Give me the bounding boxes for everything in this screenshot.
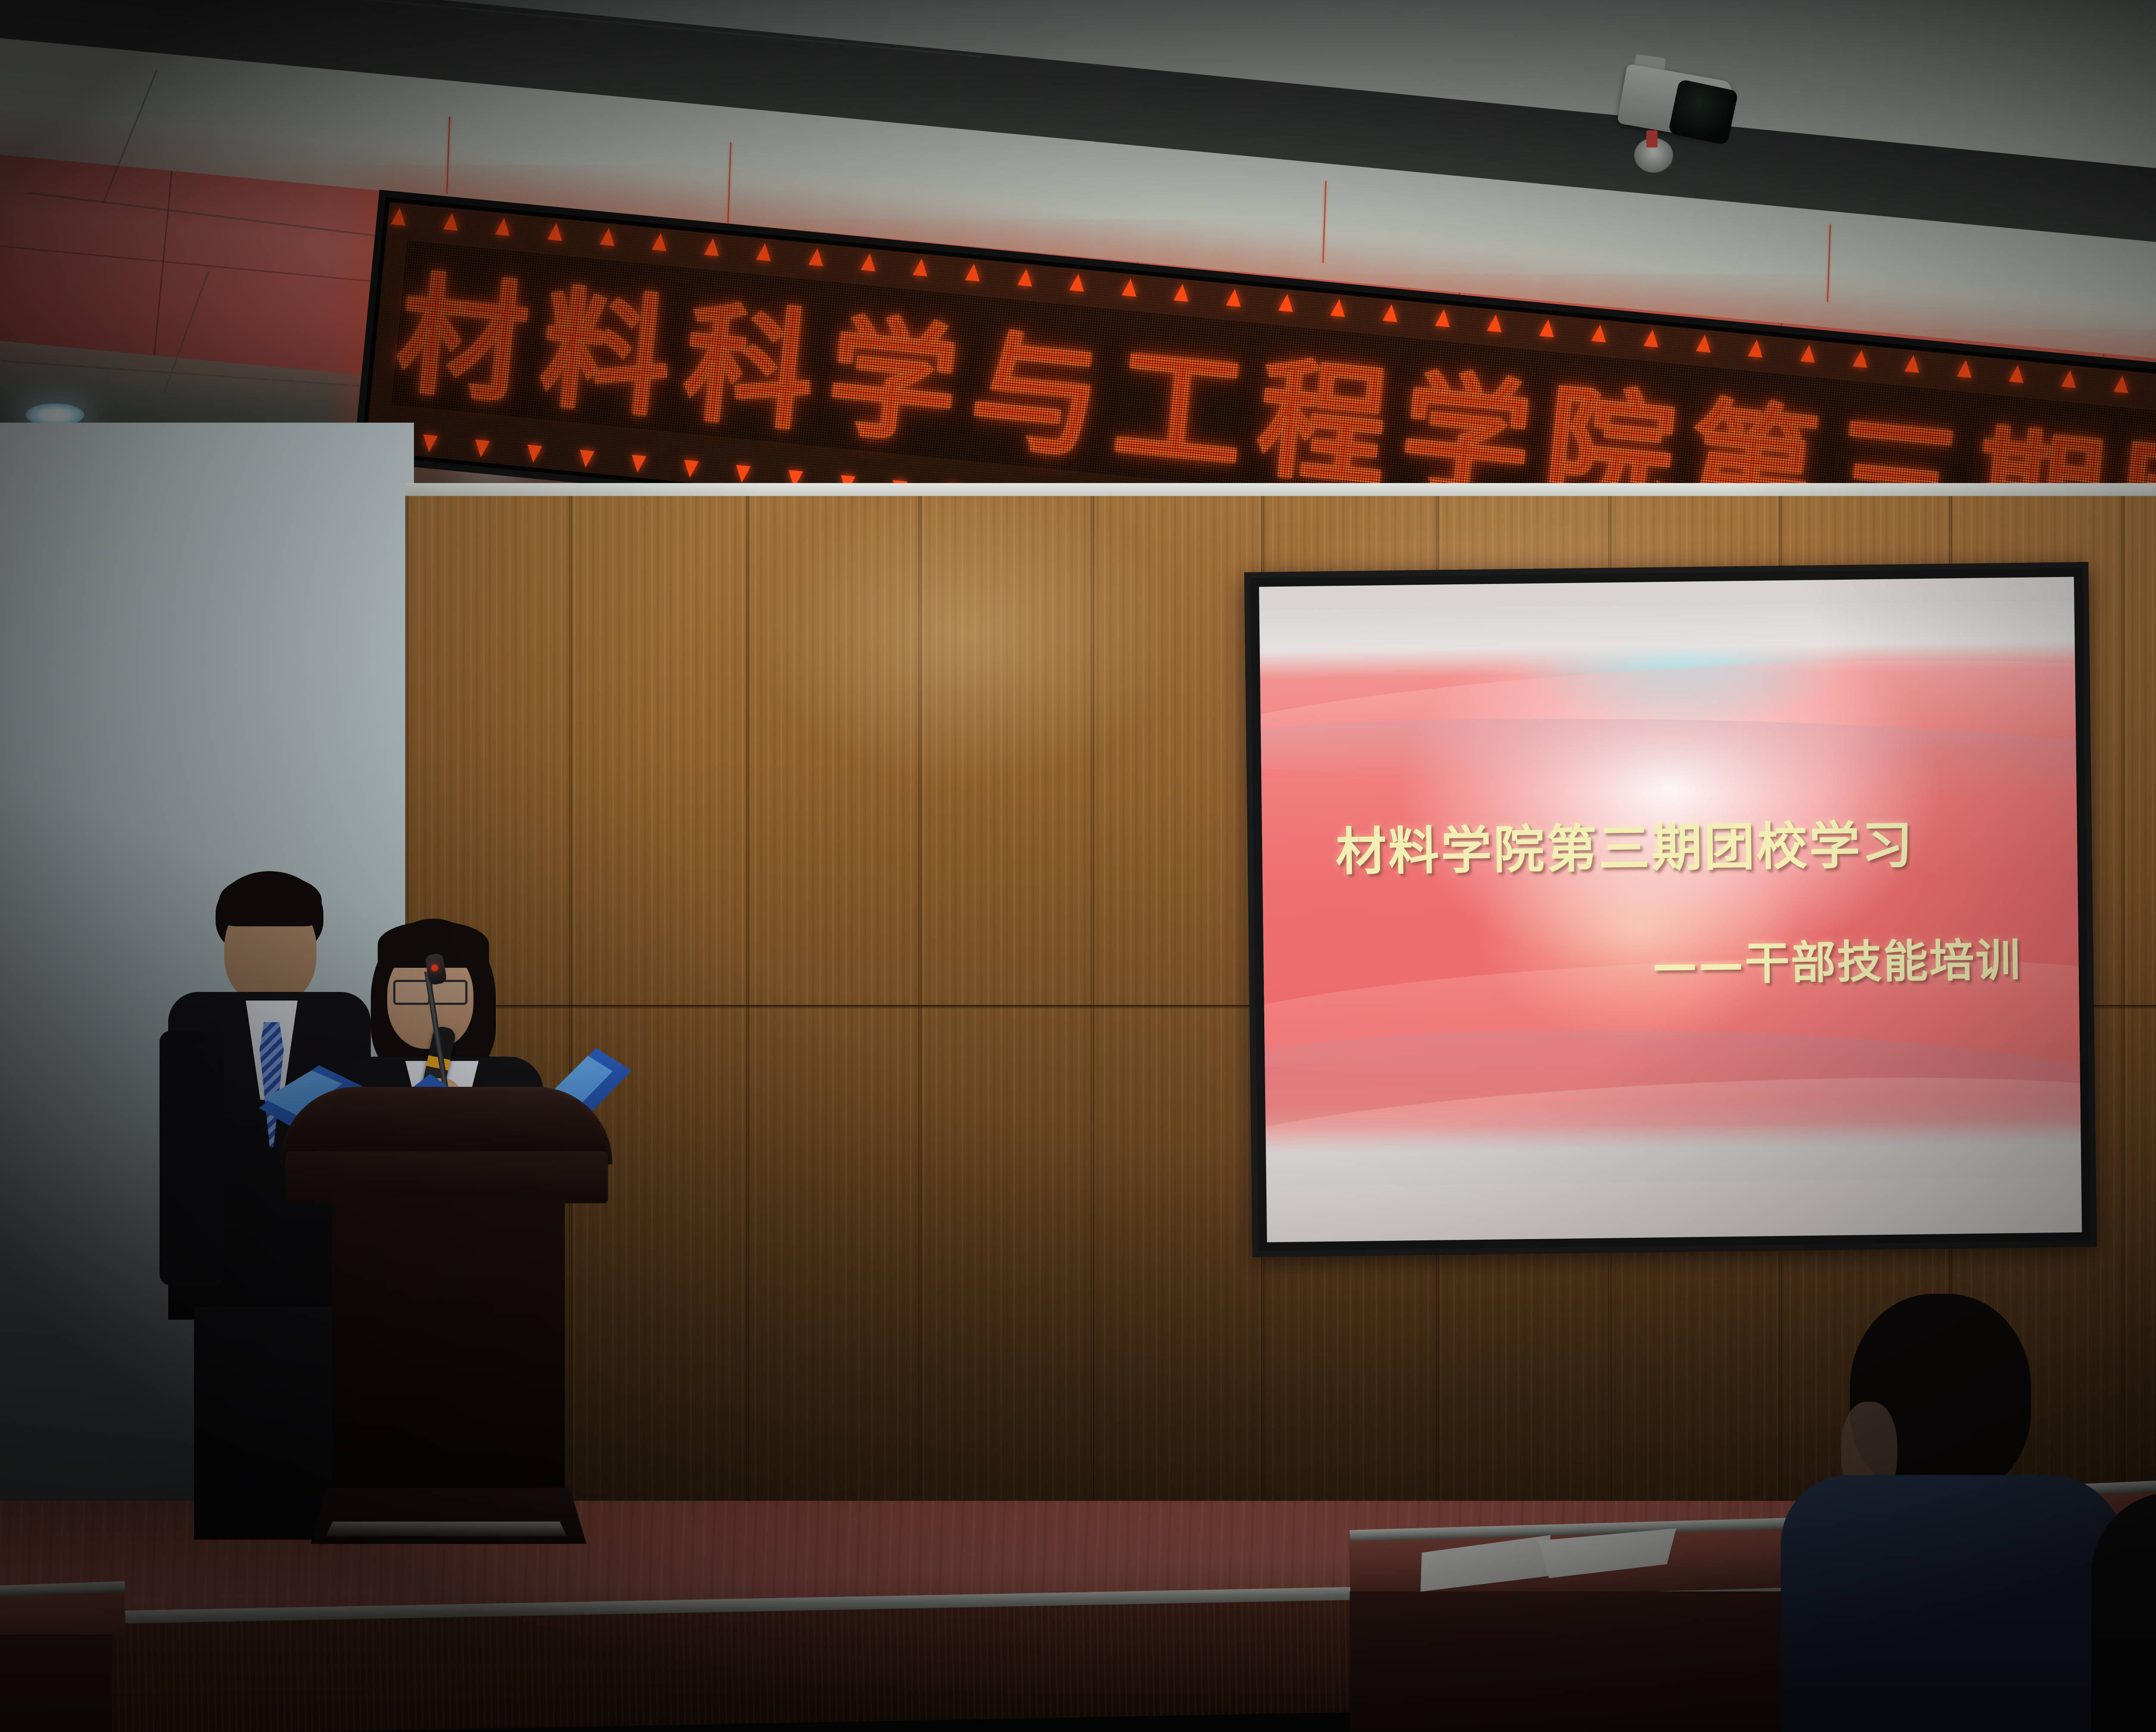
slide-title: 材料学院第三期团校学习 [1335, 803, 1915, 884]
podium-base-trim [326, 1522, 567, 1536]
projection-screen-surface: 材料学院第三期团校学习 ——干部技能培训 [1259, 577, 2082, 1243]
podium-body [332, 1197, 565, 1499]
audience-denim [1781, 1294, 2134, 1732]
projection-screen: 材料学院第三期团校学习 ——干部技能培训 [1244, 562, 2096, 1257]
podium [276, 1087, 617, 1570]
sprinkler-head-icon [1634, 138, 1673, 173]
slide-subtitle: ——干部技能培训 [1652, 923, 2022, 993]
table-center-front [1350, 1591, 1789, 1732]
eyeglasses-icon [393, 980, 430, 1005]
dark-jacket [2091, 1492, 2156, 1732]
hair-fringe [219, 875, 322, 926]
microphone-status-led [431, 964, 438, 971]
lecture-hall-photo: 材料科学与工程学院第三期团校学习——干部 [0, 0, 2156, 1732]
arm-left [160, 1031, 224, 1285]
audience-dark [2091, 1492, 2156, 1732]
table-left-front [0, 1635, 112, 1732]
denim-jacket [1781, 1475, 2126, 1732]
slide-bottom-band [1266, 1119, 2081, 1186]
presentation-slide: 材料学院第三期团校学习 ——干部技能培训 [1259, 600, 2081, 1187]
podium-lip [285, 1152, 608, 1203]
